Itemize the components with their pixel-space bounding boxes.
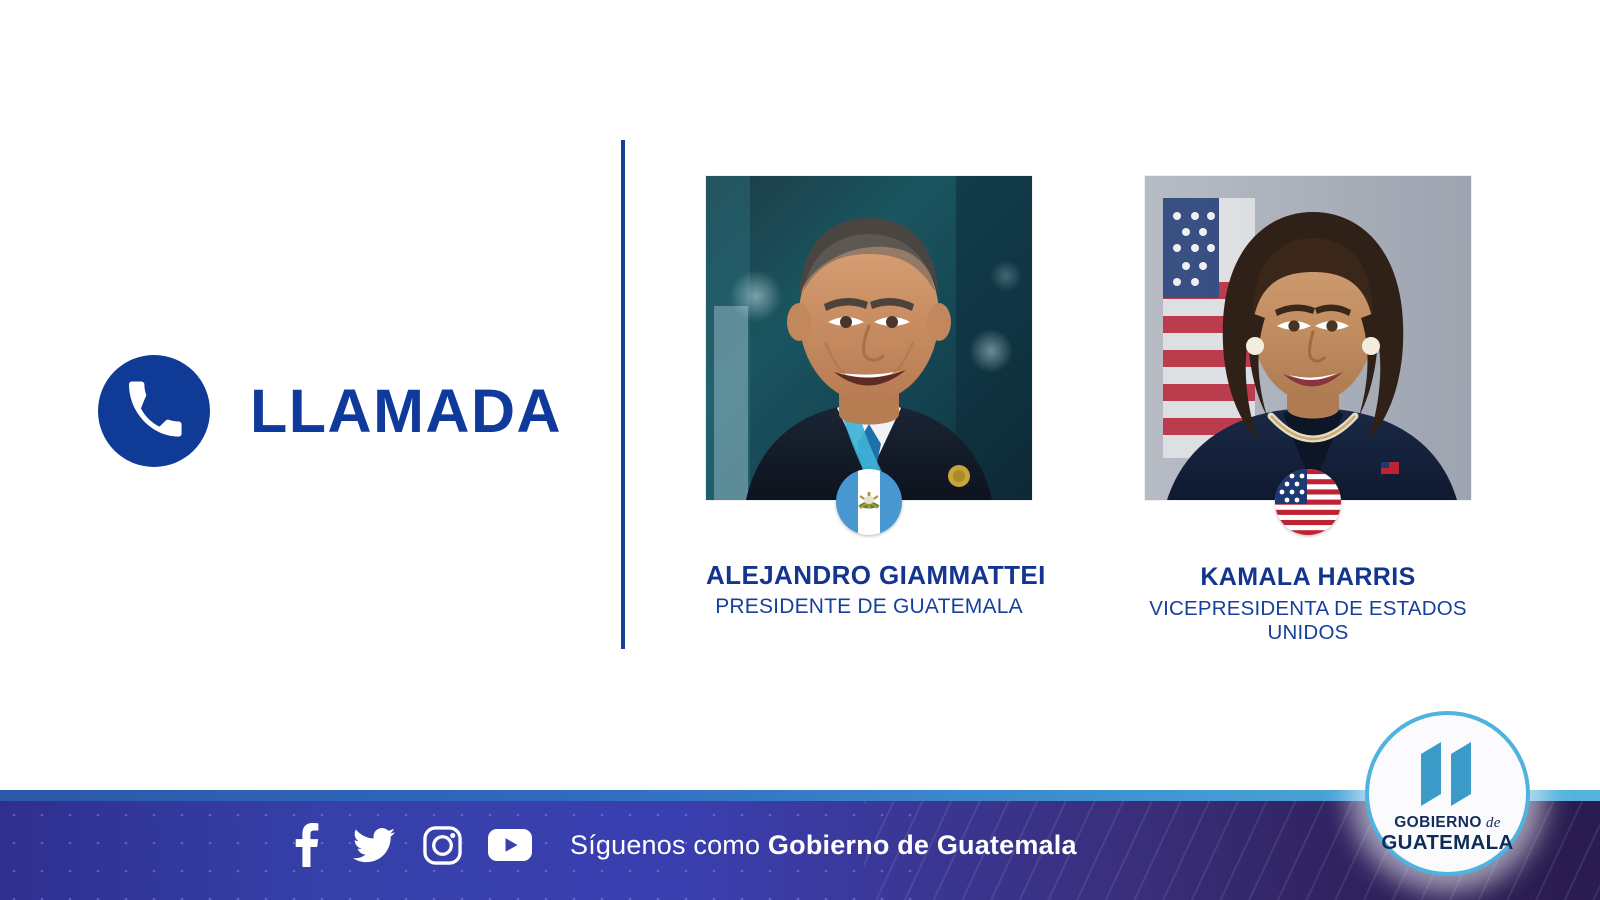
vertical-divider: [621, 140, 625, 649]
youtube-icon[interactable]: [476, 829, 544, 861]
portrait-photo: [706, 176, 1032, 500]
phone-icon: [98, 355, 210, 467]
photo-wrap: [706, 176, 1032, 500]
footer-bar: Síguenos como Gobierno de Guatemala GOBI…: [0, 790, 1600, 900]
participant-role: VICEPRESIDENTA DE ESTADOS UNIDOS: [1145, 597, 1471, 645]
participant-role: PRESIDENTE DE GUATEMALA: [706, 595, 1032, 620]
call-block: LLAMADA: [98, 355, 562, 467]
guatemala-flag-icon: [836, 469, 902, 535]
instagram-icon[interactable]: [408, 826, 476, 865]
twitter-icon[interactable]: [340, 828, 408, 863]
gobierno-de-guatemala-logo: GOBIERNOde GUATEMALA: [1365, 711, 1530, 876]
participant-name: KAMALA HARRIS: [1145, 564, 1471, 592]
pillars-icon: [1411, 736, 1485, 808]
participant-name: ALEJANDRO GIAMMATTEI: [706, 561, 1032, 590]
photo-wrap: [1145, 176, 1471, 500]
participant-card: KAMALA HARRIS VICEPRESIDENTA DE ESTADOS …: [1145, 176, 1471, 645]
follow-brand: Gobierno de Guatemala: [768, 830, 1077, 860]
follow-prefix: Síguenos como: [570, 830, 760, 860]
call-label: LLAMADA: [250, 381, 562, 442]
facebook-icon[interactable]: [272, 823, 340, 867]
logo-line-2: GUATEMALA: [1381, 832, 1513, 854]
portrait-photo: [1145, 176, 1471, 500]
logo-line-1: GOBIERNOde: [1394, 815, 1501, 831]
united-states-flag-icon: [1275, 469, 1341, 535]
follow-text: Síguenos como Gobierno de Guatemala: [570, 830, 1077, 861]
footer-content: Síguenos como Gobierno de Guatemala: [0, 790, 1600, 900]
participant-card: ALEJANDRO GIAMMATTEI PRESIDENTE DE GUATE…: [706, 176, 1032, 619]
broadcast-lower-third-slide: LLAMADA: [0, 0, 1600, 900]
